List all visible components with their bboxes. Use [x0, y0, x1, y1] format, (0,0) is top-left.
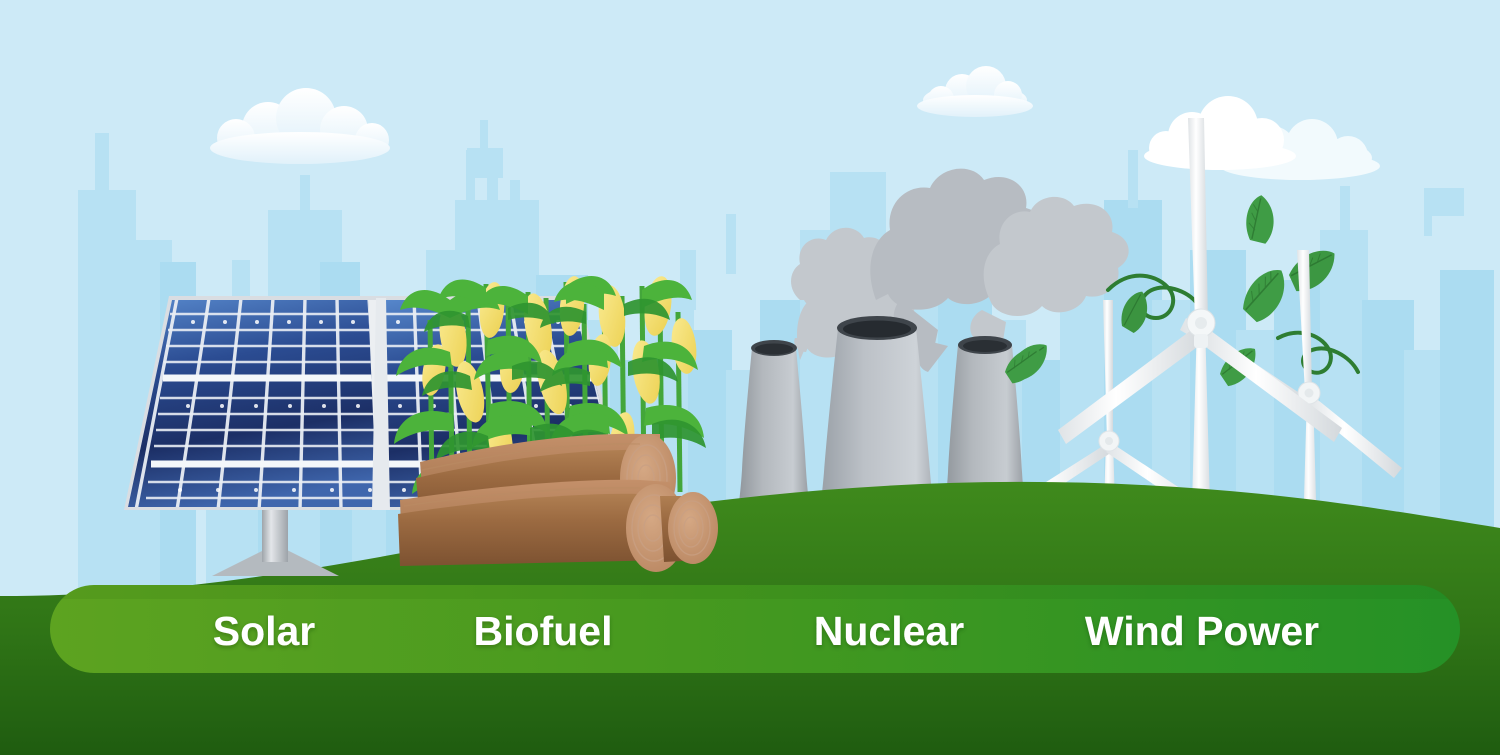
- label-wind-power[interactable]: Wind Power: [1085, 608, 1319, 654]
- energy-scene-svg: Solar Biofuel Nuclear Wind Power: [0, 0, 1500, 755]
- label-solar[interactable]: Solar: [213, 608, 316, 654]
- illustration-canvas: Solar Biofuel Nuclear Wind Power: [0, 0, 1500, 755]
- label-biofuel[interactable]: Biofuel: [474, 608, 613, 654]
- label-nuclear[interactable]: Nuclear: [814, 608, 964, 654]
- log-small: [660, 492, 718, 564]
